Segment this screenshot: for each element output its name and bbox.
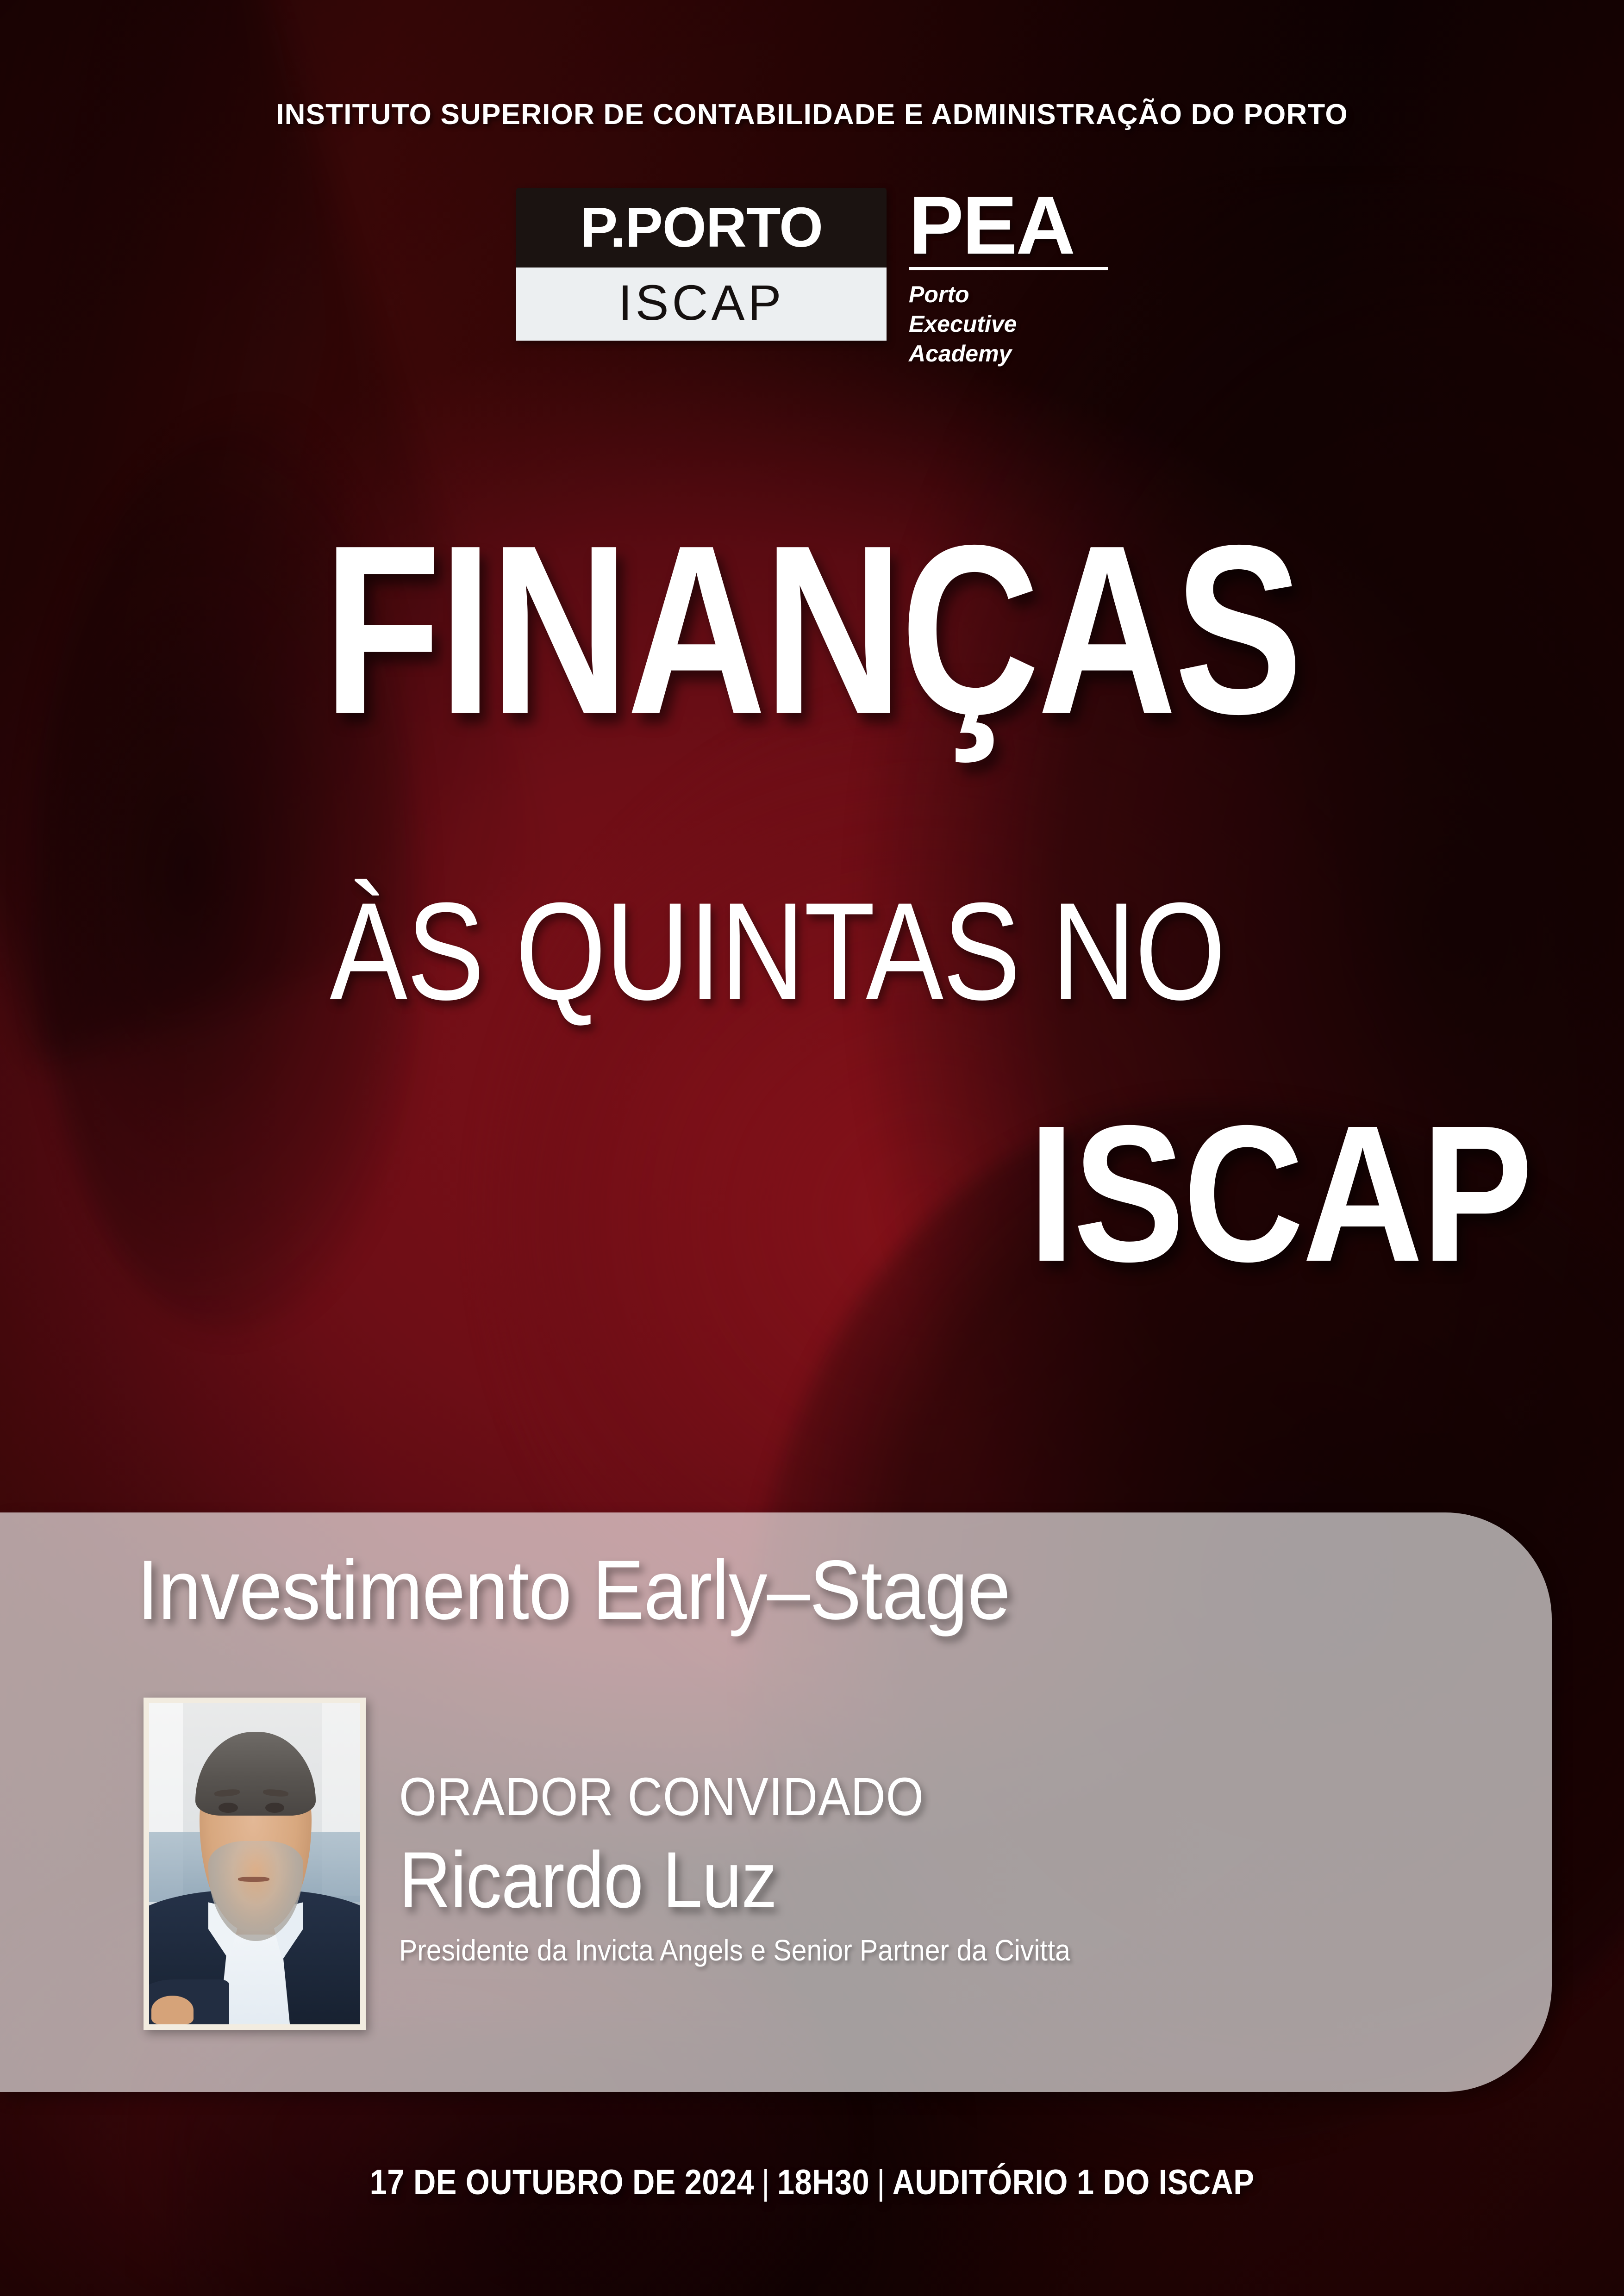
poster-root: INSTITUTO SUPERIOR DE CONTABILIDADE E AD… bbox=[0, 0, 1624, 2296]
speaker-portrait-image bbox=[149, 1703, 360, 2024]
footer-separator-2: | bbox=[869, 2163, 893, 2202]
portrait-eye-left bbox=[219, 1803, 237, 1813]
pporto-iscap-logo: P.PORTO ISCAP bbox=[516, 188, 887, 341]
pea-logo: PEA Porto Executive Academy bbox=[909, 188, 1108, 368]
speaker-photo bbox=[144, 1698, 366, 2030]
title-line-iscap: ISCAP bbox=[214, 1097, 1531, 1291]
portrait-mouth bbox=[238, 1877, 269, 1882]
portrait-hand bbox=[151, 1996, 194, 2024]
pea-subtitle-line-1: Porto bbox=[909, 280, 1108, 309]
event-time: 18H30 bbox=[777, 2163, 869, 2202]
event-venue: AUDITÓRIO 1 DO ISCAP bbox=[893, 2163, 1255, 2202]
session-topic: Investimento Early–Stage bbox=[137, 1541, 1010, 1638]
speaker-name: Ricardo Luz bbox=[399, 1840, 1056, 1920]
speaker-details: ORADOR CONVIDADO Ricardo Luz Presidente … bbox=[399, 1770, 1129, 1965]
pea-wordmark: PEA bbox=[909, 190, 1108, 261]
event-date: 17 DE OUTUBRO DE 2024 bbox=[370, 2163, 755, 2202]
logo-row: P.PORTO ISCAP PEA Porto Executive Academ… bbox=[0, 188, 1624, 368]
speaker-role-label: ORADOR CONVIDADO bbox=[399, 1770, 1056, 1823]
pea-subtitle-line-2: Executive bbox=[909, 309, 1108, 339]
organization-name: INSTITUTO SUPERIOR DE CONTABILIDADE E AD… bbox=[0, 98, 1624, 131]
title-line-as-quintas-no: ÀS QUINTAS NO bbox=[125, 882, 1430, 1020]
iscap-wordmark: ISCAP bbox=[516, 268, 887, 341]
speaker-position: Presidente da Invicta Angels e Senior Pa… bbox=[399, 1935, 1070, 1965]
footer-separator-1: | bbox=[754, 2163, 777, 2202]
title-line-financas: FINANÇAS bbox=[162, 519, 1462, 740]
event-details-footer: 17 DE OUTUBRO DE 2024|18H30|AUDITÓRIO 1 … bbox=[97, 2162, 1526, 2203]
pea-subtitle-line-3: Academy bbox=[909, 339, 1108, 368]
pporto-wordmark: P.PORTO bbox=[516, 188, 887, 268]
pea-subtitle: Porto Executive Academy bbox=[909, 280, 1108, 368]
